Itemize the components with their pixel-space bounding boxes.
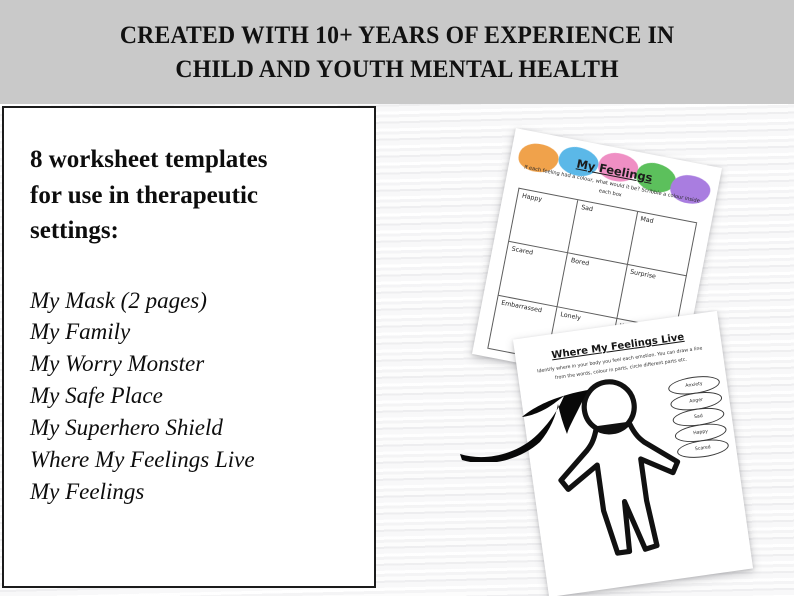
list-item: Where My Feelings Live <box>30 444 348 476</box>
product-photo: My Feelings If each feeling had a colour… <box>378 104 794 596</box>
emotion-label-ovals: Anxiety Anger Sad Happy Scared <box>667 373 730 459</box>
list-item: My Worry Monster <box>30 348 348 380</box>
list-item: My Safe Place <box>30 380 348 412</box>
list-item: My Family <box>30 316 348 348</box>
list-item: My Feelings <box>30 476 348 508</box>
worksheet-list: My Mask (2 pages) My Family My Worry Mon… <box>30 285 348 509</box>
page-title: CREATED WITH 10+ YEARS OF EXPERIENCE IN … <box>83 18 712 86</box>
arrow-container <box>460 372 595 462</box>
header-banner: CREATED WITH 10+ YEARS OF EXPERIENCE IN … <box>0 0 794 104</box>
panel-heading: 8 worksheet templates for use in therape… <box>30 142 348 249</box>
list-item: My Superhero Shield <box>30 412 348 444</box>
list-item: My Mask (2 pages) <box>30 285 348 317</box>
promo-graphic: CREATED WITH 10+ YEARS OF EXPERIENCE IN … <box>0 0 794 596</box>
info-panel: 8 worksheet templates for use in therape… <box>2 106 376 588</box>
hand-drawn-curved-arrow-icon <box>460 372 595 462</box>
